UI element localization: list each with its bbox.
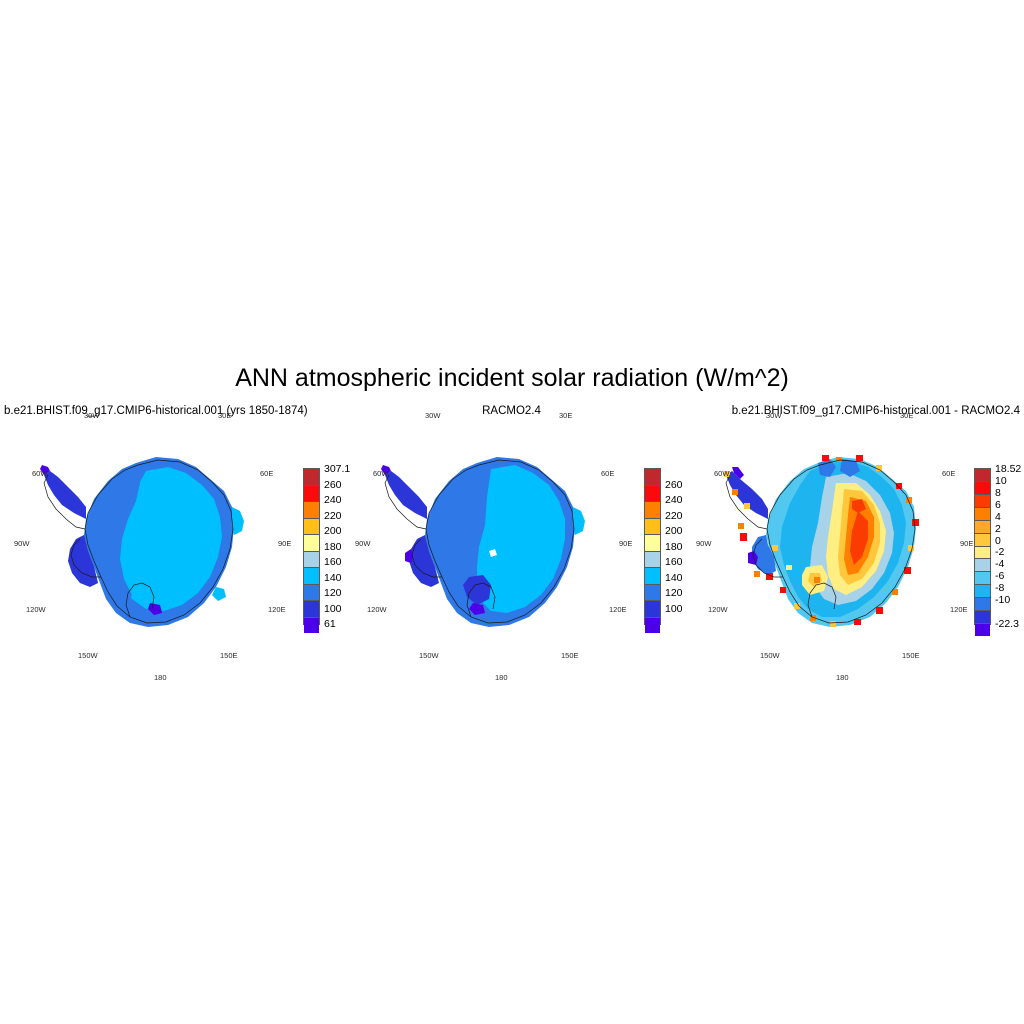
colorbar-segment	[975, 534, 990, 547]
colorbar-segment	[975, 611, 990, 624]
lon-label-30w: 30W	[766, 411, 781, 420]
colorbar-tick-label: 100	[665, 603, 683, 615]
colorbar-tick-label: 160	[665, 556, 683, 568]
colorbar-tick-label: -6	[995, 570, 1004, 582]
colorbar-segment	[975, 572, 990, 585]
lon-label-30w: 30W	[425, 411, 440, 420]
colorbar-tick-label: 220	[665, 510, 683, 522]
lon-label-60w: 60W	[32, 469, 47, 478]
colorbar-model: 307.126024022020018016014012010061	[303, 468, 318, 625]
map-antarctica-model: 30W 30E 60W 60E 90W 90E 120W 120E 150W 1…	[28, 427, 280, 679]
lon-label-150w: 150W	[760, 651, 780, 660]
colorbar-tick-label: 220	[324, 510, 342, 522]
colorbar-segment	[304, 519, 319, 536]
map-antarctica-difference: 30W 30E 60W 60E 90W 90E 120W 120E 150W 1…	[710, 427, 962, 679]
lon-label-150w: 150W	[78, 651, 98, 660]
colorbar-tick-label: 260	[324, 479, 342, 491]
colorbar-segment	[975, 495, 990, 508]
colorbar-tick-label: -2	[995, 546, 1004, 558]
lon-label-30e: 30E	[900, 411, 913, 420]
lon-label-150e: 150E	[561, 651, 579, 660]
colorbar-gradient: 18.521086420-2-4-6-8-10-22.3	[974, 468, 991, 625]
colorbar-tick-label: 240	[665, 494, 683, 506]
lon-label-30w: 30W	[84, 411, 99, 420]
lon-label-60w: 60W	[373, 469, 388, 478]
panel-subtitle: RACMO2.4	[341, 405, 682, 417]
map-svg	[710, 427, 962, 679]
colorbar-tick-label: 8	[995, 487, 1001, 499]
colorbar-segment	[975, 598, 990, 611]
colorbar-segment	[645, 469, 660, 486]
colorbar-max-label: 18.52	[995, 463, 1021, 475]
colorbar-tick-label: 140	[324, 572, 342, 584]
lon-label-90w: 90W	[355, 539, 370, 548]
colorbar-tick-label: 260	[665, 479, 683, 491]
colorbar-tick-label: 200	[324, 525, 342, 537]
lon-label-150e: 150E	[902, 651, 920, 660]
lon-label-120w: 120W	[367, 605, 387, 614]
lon-label-120e: 120E	[609, 605, 627, 614]
lon-label-120w: 120W	[708, 605, 728, 614]
lon-label-30e: 30E	[559, 411, 572, 420]
colorbar-segment	[645, 552, 660, 569]
lon-label-60w: 60W	[714, 469, 729, 478]
colorbar-tick-label: 200	[665, 525, 683, 537]
colorbar-tick-label: -10	[995, 594, 1010, 606]
map-antarctica-racmo: 30W 30E 60W 60E 90W 90E 120W 120E 150W 1…	[369, 427, 621, 679]
lon-label-150w: 150W	[419, 651, 439, 660]
colorbar-tick-label: 0	[995, 535, 1001, 547]
colorbar-min-label: -22.3	[995, 618, 1019, 630]
lon-label-90w: 90W	[14, 539, 29, 548]
colorbar-segment	[304, 568, 319, 585]
colorbar-racmo: 260240220200180160140120100	[644, 468, 659, 625]
colorbar-tick-label: 10	[995, 475, 1007, 487]
colorbar-segment	[645, 618, 660, 634]
colorbar-tick-label: 120	[665, 587, 683, 599]
colorbar-tick-label: 180	[665, 541, 683, 553]
lon-label-150e: 150E	[220, 651, 238, 660]
colorbar-tick-label: 140	[665, 572, 683, 584]
colorbar-segment	[975, 547, 990, 560]
colorbar-tick-label: 100	[324, 603, 342, 615]
lon-label-180: 180	[154, 673, 167, 682]
lon-label-90e: 90E	[960, 539, 973, 548]
colorbar-segment	[645, 568, 660, 585]
colorbar-segment	[975, 624, 990, 636]
lon-label-120e: 120E	[268, 605, 286, 614]
colorbar-tick-label: 240	[324, 494, 342, 506]
colorbar-segment	[975, 559, 990, 572]
colorbar-tick-label: 120	[324, 587, 342, 599]
colorbar-segment	[645, 486, 660, 503]
panel-model: b.e21.BHIST.f09_g17.CMIP6-historical.001…	[0, 405, 341, 695]
colorbar-tick-label: 6	[995, 499, 1001, 511]
colorbar-segment	[975, 469, 990, 482]
lon-label-180: 180	[836, 673, 849, 682]
colorbar-segment	[304, 502, 319, 519]
colorbar-segment	[304, 486, 319, 503]
colorbar-segment	[304, 601, 319, 618]
lon-label-60e: 60E	[601, 469, 614, 478]
lon-label-90e: 90E	[278, 539, 291, 548]
colorbar-segment	[645, 601, 660, 618]
colorbar-segment	[304, 552, 319, 569]
lon-label-60e: 60E	[260, 469, 273, 478]
figure-canvas: ANN atmospheric incident solar radiation…	[0, 0, 1024, 1024]
lon-label-180: 180	[495, 673, 508, 682]
lon-label-90w: 90W	[696, 539, 711, 548]
colorbar-segment	[975, 508, 990, 521]
map-svg	[369, 427, 621, 679]
colorbar-segment	[304, 469, 319, 486]
colorbar-tick-label: 160	[324, 556, 342, 568]
colorbar-tick-label: 180	[324, 541, 342, 553]
colorbar-tick-label: 2	[995, 523, 1001, 535]
map-svg	[28, 427, 280, 679]
lon-label-30e: 30E	[218, 411, 231, 420]
lon-label-60e: 60E	[942, 469, 955, 478]
colorbar-gradient: 307.126024022020018016014012010061	[303, 468, 320, 625]
colorbar-segment	[975, 521, 990, 534]
colorbar-segment	[304, 618, 319, 634]
colorbar-segment	[975, 585, 990, 598]
page-title: ANN atmospheric incident solar radiation…	[0, 364, 1024, 393]
lon-label-120w: 120W	[26, 605, 46, 614]
panel-racmo: RACMO2.4	[341, 405, 682, 695]
colorbar-gradient: 260240220200180160140120100	[644, 468, 661, 625]
colorbar-min-label: 61	[324, 618, 336, 630]
colorbar-tick-label: -4	[995, 558, 1004, 570]
colorbar-tick-label: -8	[995, 582, 1004, 594]
colorbar-segment	[304, 535, 319, 552]
colorbar-segment	[645, 585, 660, 602]
colorbar-segment	[645, 519, 660, 536]
colorbar-segment	[975, 482, 990, 495]
colorbar-segment	[645, 502, 660, 519]
colorbar-tick-label: 4	[995, 511, 1001, 523]
panel-difference: b.e21.BHIST.f09_g17.CMIP6-historical.001…	[682, 405, 1024, 695]
colorbar-segment	[304, 585, 319, 602]
lon-label-90e: 90E	[619, 539, 632, 548]
panel-subtitle: b.e21.BHIST.f09_g17.CMIP6-historical.001…	[4, 405, 308, 417]
colorbar-difference: 18.521086420-2-4-6-8-10-22.3	[974, 468, 989, 625]
colorbar-segment	[645, 535, 660, 552]
lon-label-120e: 120E	[950, 605, 968, 614]
